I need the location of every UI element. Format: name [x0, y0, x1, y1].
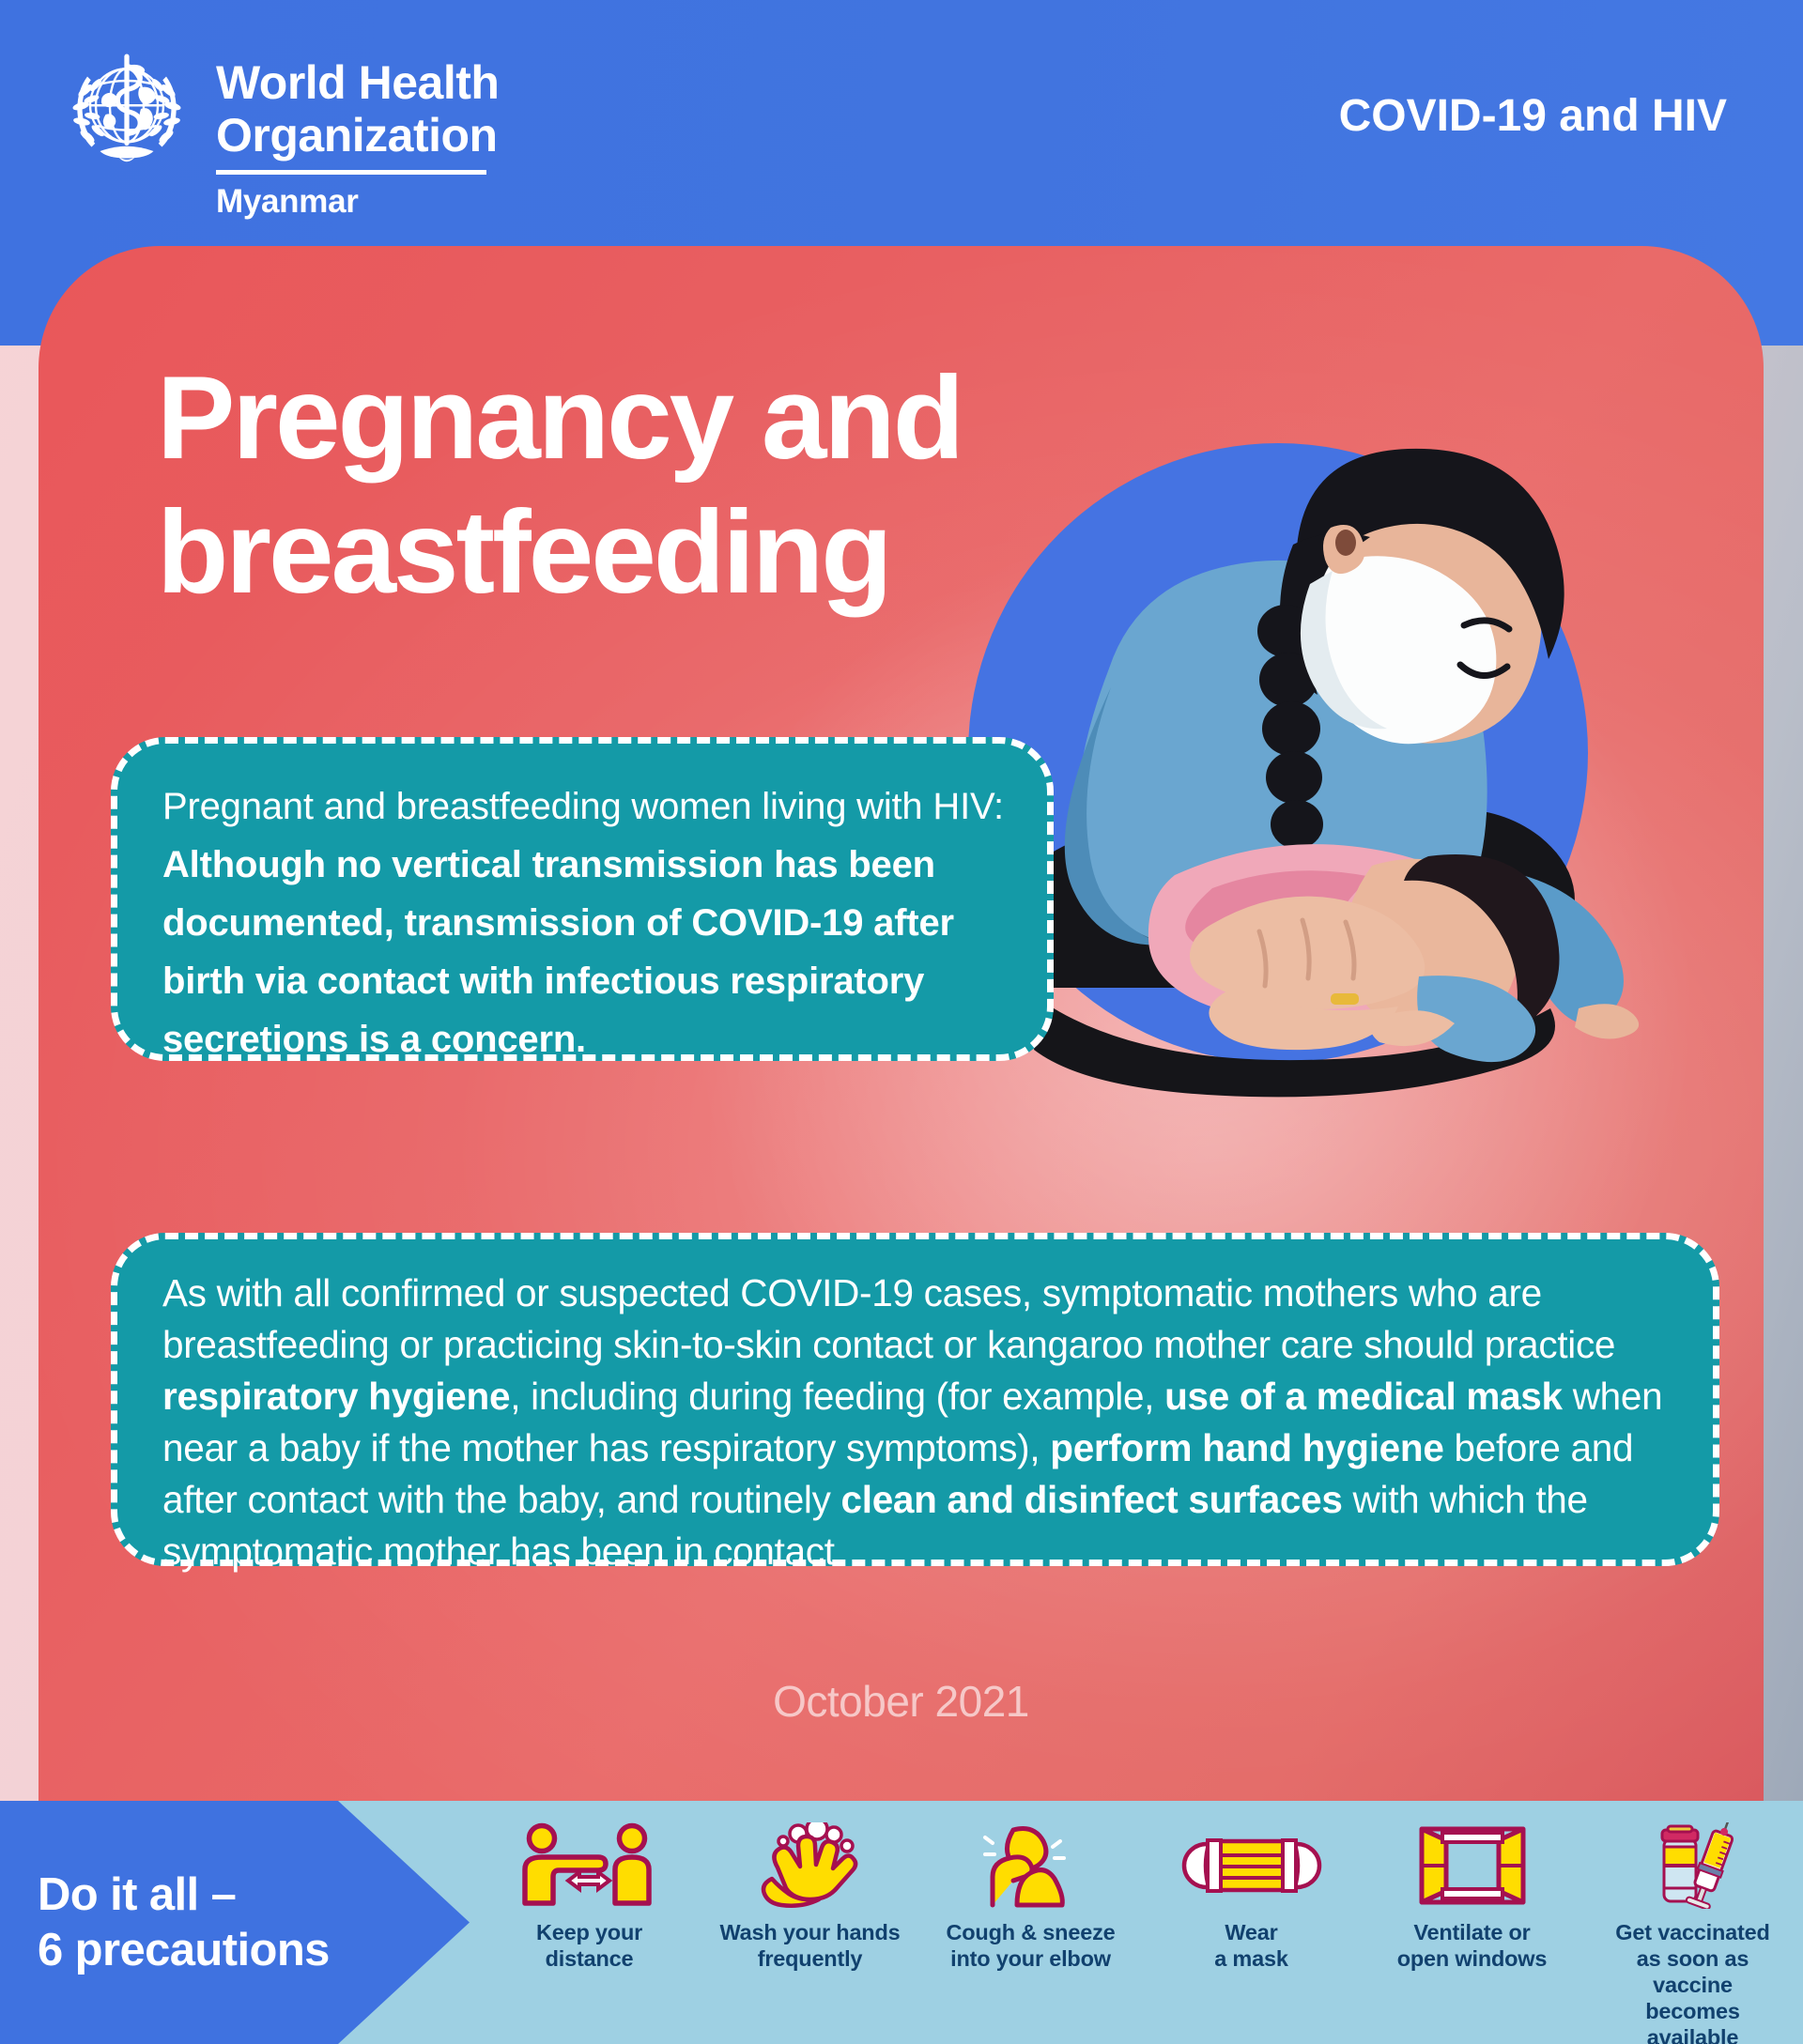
precautions-heading-line1: Do it all –: [38, 1867, 330, 1923]
topic-label: COVID-19 and HIV: [1339, 90, 1727, 142]
precautions-heading-line2: 6 precautions: [38, 1923, 330, 1978]
publication-date: October 2021: [39, 1676, 1764, 1727]
precaution-item-ventilate[interactable]: Ventilate or open windows: [1362, 1801, 1582, 1972]
main-content-card: Pregnancy and breastfeeding Pregnant and…: [39, 246, 1764, 1801]
box2-seg1: As with all confirmed or suspected COVID…: [162, 1271, 1615, 1366]
who-country-label: Myanmar: [216, 183, 499, 221]
info-box-precautions: As with all confirmed or suspected COVID…: [111, 1233, 1719, 1566]
info-box-hiv-text: Pregnant and breastfeeding women living …: [117, 744, 1047, 1068]
precautions-list: Keep your distance: [479, 1801, 1803, 2044]
info-box-hiv: Pregnant and breastfeeding women living …: [111, 737, 1054, 1061]
box2-bold1: respiratory hygiene: [162, 1375, 510, 1418]
precaution-label-mask: Wear a mask: [1214, 1919, 1288, 1972]
label-line2: open windows: [1397, 1945, 1547, 1972]
precaution-item-cough-elbow[interactable]: Cough & sneeze into your elbow: [920, 1801, 1141, 1972]
precaution-label-ventilate: Ventilate or open windows: [1397, 1919, 1547, 1972]
precaution-item-wash-hands[interactable]: Wash your hands frequently: [700, 1801, 920, 1972]
who-logo: World Health Organization Myanmar: [56, 38, 499, 221]
precautions-bar: Do it all – 6 precautions: [0, 1801, 1803, 2044]
label-line2: a mask: [1214, 1945, 1288, 1972]
box1-bold: Although no vertical transmission has be…: [162, 844, 954, 1060]
precaution-label-wash-hands: Wash your hands frequently: [720, 1919, 901, 1972]
label-line1: Wear: [1214, 1919, 1288, 1945]
box1-lead: Pregnant and breastfeeding women living …: [162, 786, 1004, 827]
box2-bold2: use of a medical mask: [1164, 1375, 1563, 1418]
who-divider-rule: [216, 170, 486, 175]
label-line2: distance: [536, 1945, 642, 1972]
info-box-precautions-text: As with all confirmed or suspected COVID…: [117, 1239, 1713, 1577]
label-line2: into your elbow: [946, 1945, 1115, 1972]
precaution-item-mask[interactable]: Wear a mask: [1141, 1801, 1362, 1972]
label-line3: becomes available: [1599, 1998, 1787, 2044]
precaution-label-cough-elbow: Cough & sneeze into your elbow: [946, 1919, 1115, 1972]
precaution-item-distance[interactable]: Keep your distance: [479, 1801, 700, 1972]
label-line1: Keep your: [536, 1919, 642, 1945]
precaution-item-vaccine[interactable]: Get vaccinated as soon as vaccine become…: [1582, 1801, 1803, 2044]
label-line1: Get vaccinated: [1599, 1919, 1787, 1945]
box2-seg2: , including during feeding (for example,: [510, 1375, 1164, 1418]
who-wordmark: World Health Organization Myanmar: [216, 38, 499, 221]
box2-bold4: clean and disinfect surfaces: [841, 1478, 1343, 1521]
face-mask-icon: [1181, 1821, 1322, 1910]
keep-distance-icon: [516, 1821, 664, 1910]
label-line2: frequently: [720, 1945, 901, 1972]
open-window-icon: [1416, 1821, 1529, 1910]
cough-into-elbow-icon: [979, 1821, 1083, 1910]
wash-hands-icon: [749, 1821, 871, 1910]
precaution-label-vaccine: Get vaccinated as soon as vaccine become…: [1599, 1919, 1787, 2044]
label-line2: as soon as vaccine: [1599, 1945, 1787, 1998]
vaccine-syringe-icon: [1641, 1821, 1745, 1910]
page-title: Pregnancy and breastfeeding: [157, 351, 1209, 620]
who-org-line2: Organization: [216, 109, 499, 161]
who-org-line1: World Health: [216, 56, 499, 109]
label-line1: Wash your hands: [720, 1919, 901, 1945]
label-line1: Ventilate or: [1397, 1919, 1547, 1945]
precautions-heading-text: Do it all – 6 precautions: [0, 1867, 330, 1978]
precautions-heading-arrow: Do it all – 6 precautions: [0, 1801, 470, 2044]
who-emblem-icon: [56, 38, 197, 180]
box2-bold3: perform hand hygiene: [1050, 1426, 1443, 1469]
label-line1: Cough & sneeze: [946, 1919, 1115, 1945]
precaution-label-distance: Keep your distance: [536, 1919, 642, 1972]
